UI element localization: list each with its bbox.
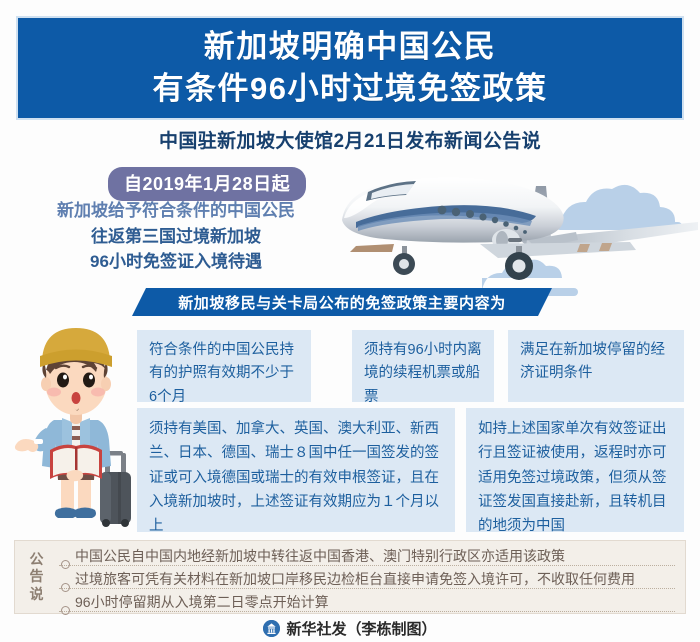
effective-date-badge: 自2019年1月28日起 xyxy=(108,167,306,201)
footer-credit: 新华社发（李栋制图） xyxy=(0,618,700,639)
announcement-label-char-1: 公 xyxy=(15,551,59,568)
airplane-illustration xyxy=(330,148,700,300)
policy-box-passport-validity: 符合条件的中国公民持有的护照有效期不少于6个月 xyxy=(137,330,311,402)
subheadline: 中国驻新加坡大使馆2月21日发布新闻公告说 xyxy=(0,126,700,153)
title-banner: 新加坡明确中国公民 有条件96小时过境免签政策 xyxy=(16,16,684,120)
list-item: 96小时停留期从入境第二日零点开始计算 xyxy=(59,589,675,612)
traveler-character-illustration xyxy=(6,312,142,536)
title-line-2: 有条件96小时过境免签政策 xyxy=(153,68,548,110)
policy-box-onward-ticket: 须持有96小时内离境的续程机票或船票 xyxy=(352,330,494,402)
announcement-label: 公 告 说 xyxy=(15,551,59,602)
cloud-shape xyxy=(556,185,682,230)
bullet-circle-icon xyxy=(61,606,70,615)
title-line-1: 新加坡明确中国公民 xyxy=(204,26,497,68)
book-icon xyxy=(50,445,102,479)
announcement-label-char-3: 说 xyxy=(15,586,59,603)
policy-box-financial-proof: 满足在新加坡停留的经济证明条件 xyxy=(508,330,684,402)
lead-line-3: 96小时免签证入境待遇 xyxy=(0,249,352,275)
announcement-text-2: 过境旅客可凭有关材料在新加坡口岸移民边检柜台直接申请免签入境许可，不收取任何费用 xyxy=(75,571,635,588)
announcement-list: 中国公民自中国内地经新加坡中转往返中国香港、澳门特别行政区亦适用该政策 过境旅客… xyxy=(59,543,685,612)
announcement-box: 公 告 说 中国公民自中国内地经新加坡中转往返中国香港、澳门特别行政区亦适用该政… xyxy=(14,540,686,614)
xinhua-logo-icon xyxy=(263,620,280,637)
announcement-label-char-2: 告 xyxy=(15,568,59,585)
credit-text: 新华社发（李栋制图） xyxy=(286,618,436,639)
policy-box-eight-country-visa: 须持有美国、加拿大、英国、澳大利亚、新西兰、日本、德国、瑞士８国中任一国签发的签… xyxy=(137,408,455,532)
list-item: 中国公民自中国内地经新加坡中转往返中国香港、澳门特别行政区亦适用该政策 xyxy=(59,543,675,566)
section-banner: 新加坡移民与关卡局公布的免签政策主要内容为 xyxy=(132,288,552,316)
infographic-page: 新加坡明确中国公民 有条件96小时过境免签政策 中国驻新加坡大使馆2月21日发布… xyxy=(0,0,700,642)
lead-line-1: 新加坡给予符合条件的中国公民 xyxy=(0,198,352,224)
landing-gear xyxy=(393,246,533,280)
list-item: 过境旅客可凭有关材料在新加坡口岸移民边检柜台直接申请免签入境许可，不收取任何费用 xyxy=(59,566,675,589)
lead-line-2: 往返第三国过境新加坡 xyxy=(0,224,352,250)
lead-text-block: 新加坡给予符合条件的中国公民 往返第三国过境新加坡 96小时免签证入境待遇 xyxy=(0,198,352,275)
announcement-text-1: 中国公民自中国内地经新加坡中转往返中国香港、澳门特别行政区亦适用该政策 xyxy=(75,548,565,565)
policy-box-single-entry-return: 如持上述国家单次有效签证出行且签证被使用，返程时亦可适用免签过境政策，但须从签证… xyxy=(466,408,684,532)
suitcase-icon xyxy=(100,451,131,527)
announcement-text-3: 96小时停留期从入境第二日零点开始计算 xyxy=(75,594,329,611)
